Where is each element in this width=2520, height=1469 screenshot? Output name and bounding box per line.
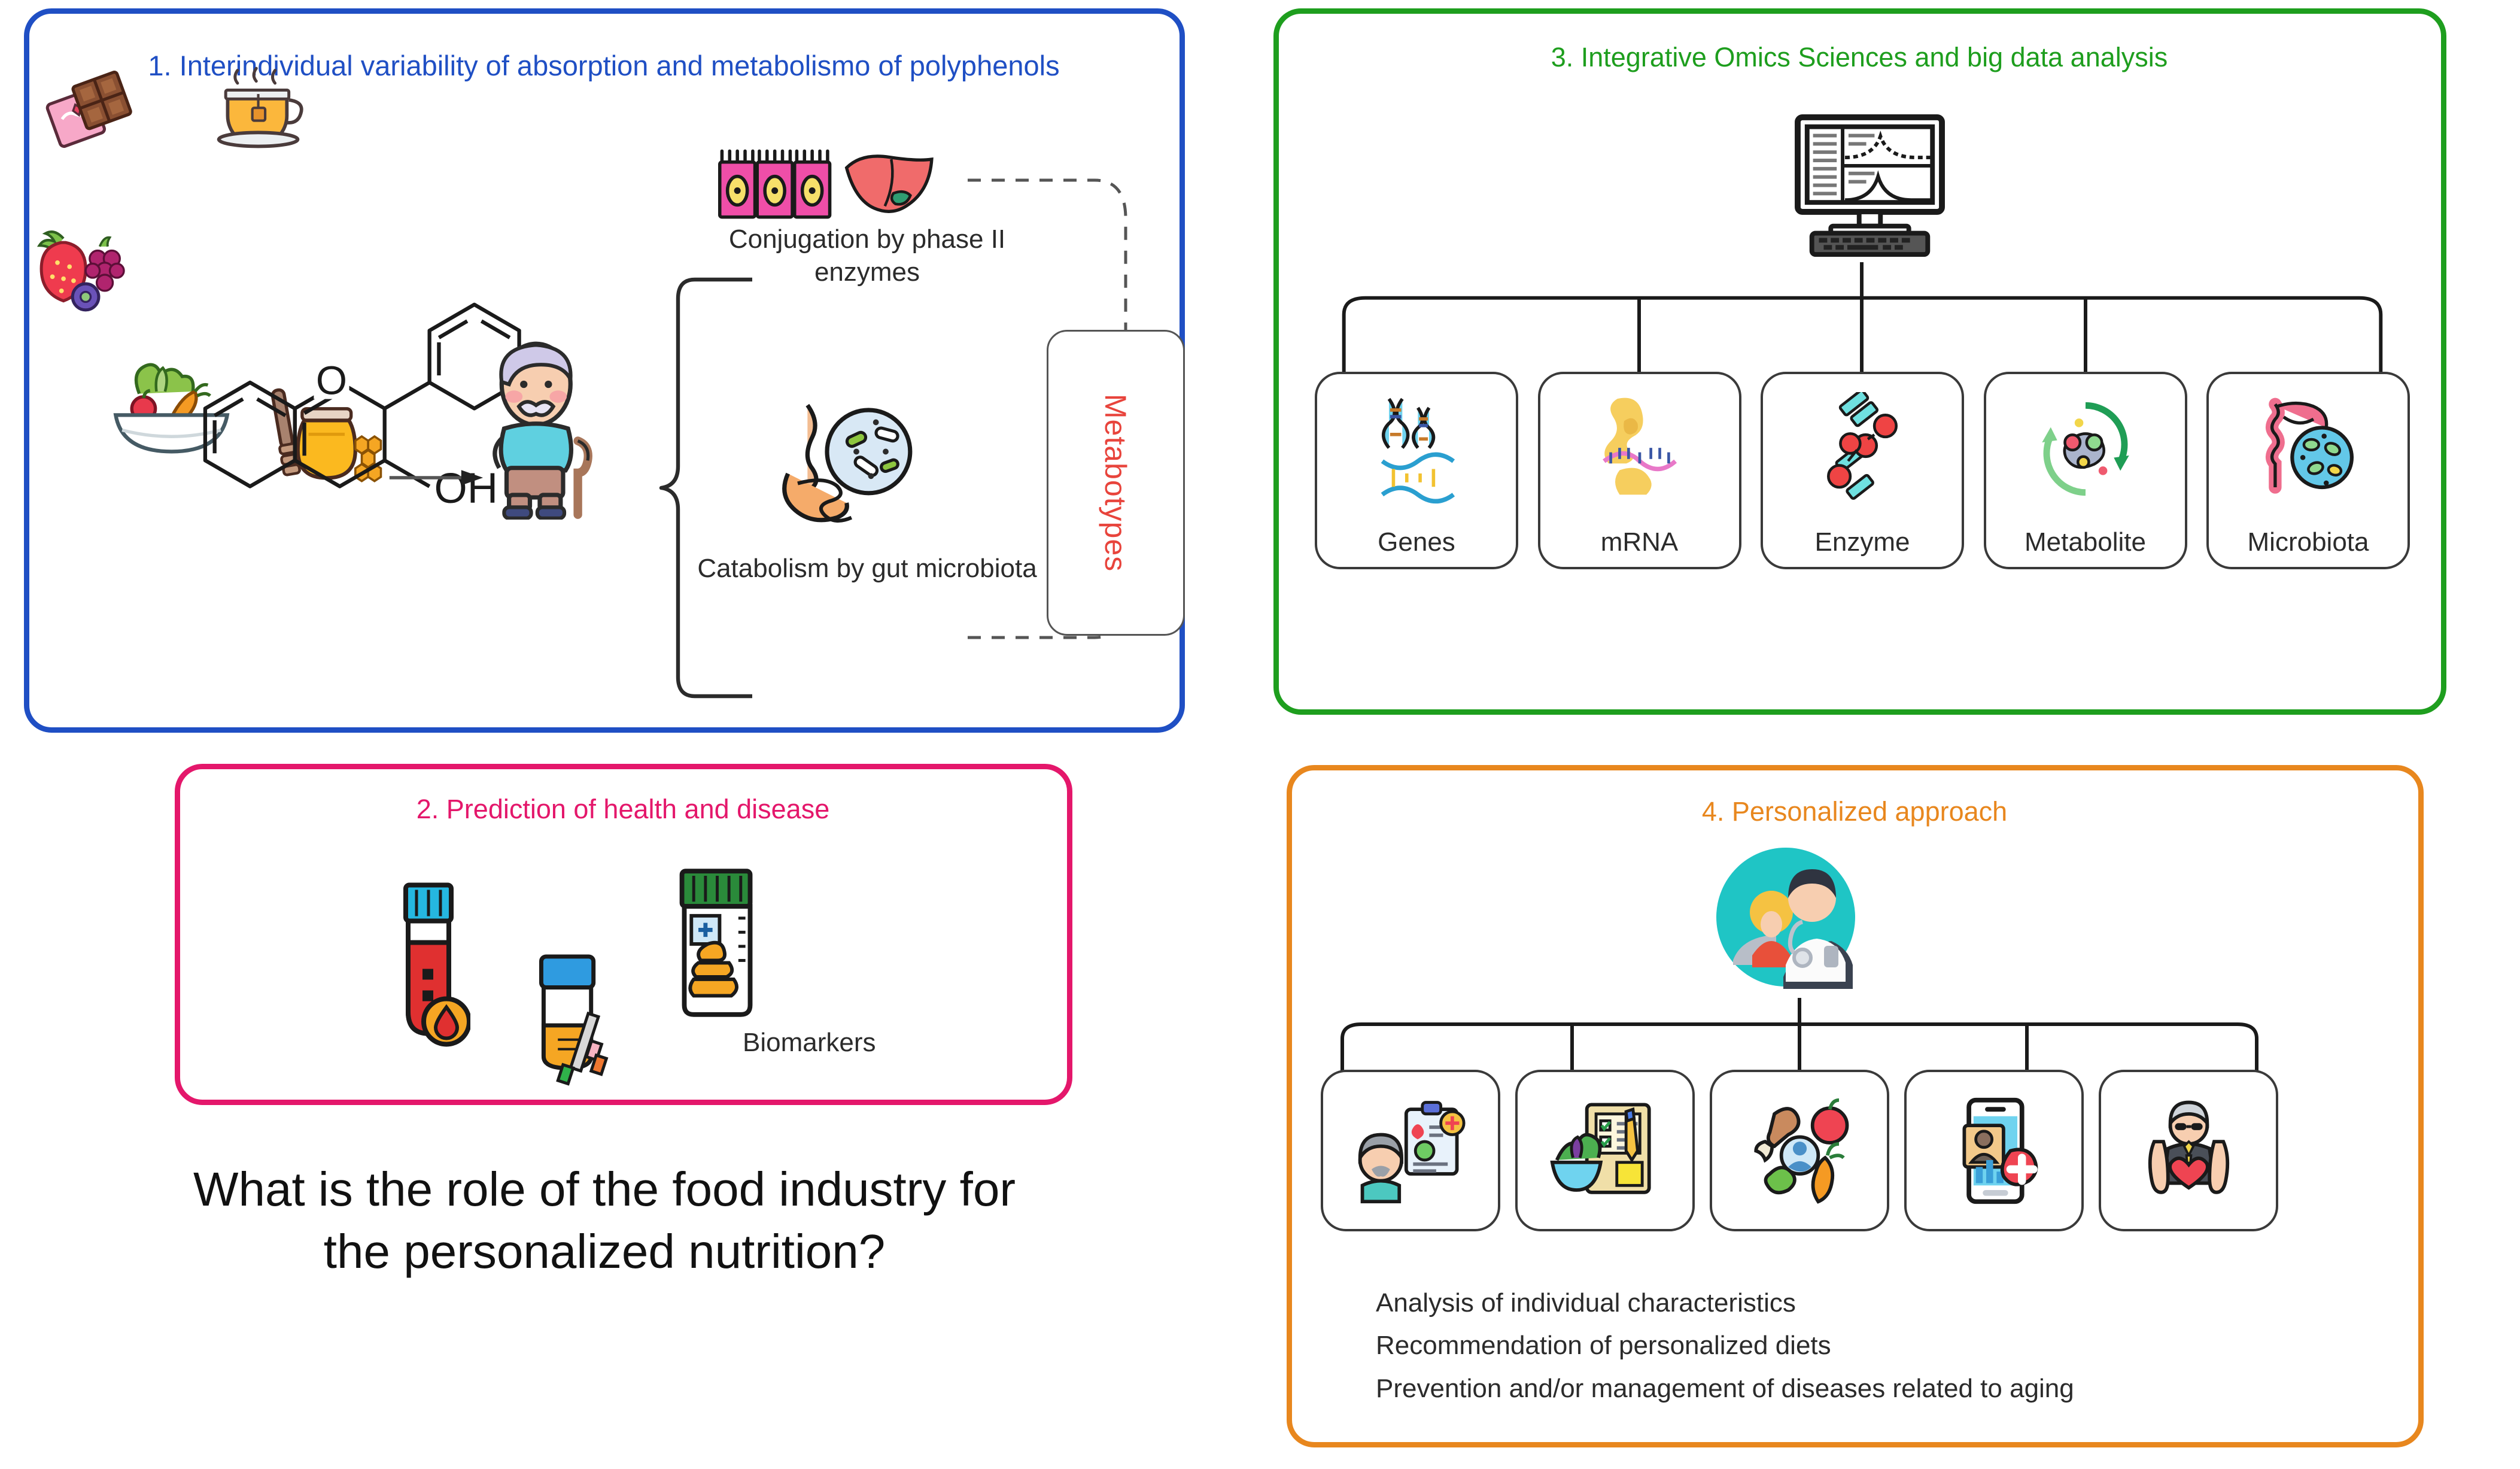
omics-label-enzyme: Enzyme	[1815, 527, 1910, 557]
omics-label-microbiota: Microbiota	[2248, 527, 2369, 557]
approach-box-telemedicine[interactable]	[1904, 1070, 2084, 1231]
omics-tree-connector	[1315, 262, 2410, 373]
panel-integrative-omics: 3. Integrative Omics Sciences and big da…	[1273, 8, 2446, 715]
approach-box-personalized-food[interactable]	[1710, 1070, 1889, 1231]
bullet-2: Prevention and/or management of diseases…	[1376, 1367, 2074, 1410]
approach-bullets: Analysis of individual characteristics R…	[1376, 1282, 2074, 1410]
approach-box-row	[1321, 1070, 2278, 1231]
liver-icon	[840, 148, 936, 223]
bullet-0: Analysis of individual characteristics	[1376, 1282, 2074, 1324]
chromosome-dna-icon	[1373, 374, 1460, 524]
panel-personalized-approach: 4. Personalized approach	[1287, 765, 2424, 1447]
intestinal-epithelium-icon	[715, 147, 837, 221]
elderly-man-with-cane-icon	[472, 340, 610, 520]
urine-sample-cup-icon	[524, 952, 620, 1089]
omics-box-microbiota[interactable]: Microbiota	[2206, 372, 2410, 569]
omics-label-metabolite: Metabolite	[2024, 527, 2146, 557]
chocolate-bar-icon	[41, 68, 143, 157]
omics-box-enzyme[interactable]: Enzyme	[1761, 372, 1964, 569]
omics-box-row: Genes mRNA	[1315, 372, 2410, 569]
omics-label-mrna: mRNA	[1601, 527, 1679, 557]
doctor-patient-consultation-icon	[1714, 845, 1858, 989]
omics-box-genes[interactable]: Genes	[1315, 372, 1518, 569]
enzyme-molecule-icon	[1817, 374, 1907, 524]
panel2-title: 2. Prediction of health and disease	[204, 793, 1042, 826]
approach-box-diet-plan[interactable]	[1515, 1070, 1695, 1231]
approach-box-healthy-aging[interactable]	[2099, 1070, 2278, 1231]
panel-prediction-health-disease: 2. Prediction of health and disease	[175, 764, 1072, 1105]
stool-sample-container-icon	[668, 865, 767, 1021]
biomarkers-caption: Biomarkers	[743, 1028, 876, 1058]
diet-checklist-icon	[1550, 1072, 1661, 1229]
branch-brace	[647, 272, 761, 703]
gut-microbiota-icon	[768, 400, 915, 538]
question-line-2: the personalized nutrition?	[66, 1221, 1143, 1283]
mrna-transcript-icon	[1595, 374, 1685, 524]
metabolite-cycle-icon	[2038, 374, 2133, 524]
personalized-food-icon	[1744, 1072, 1855, 1229]
svg-text:O: O	[316, 359, 347, 403]
telemedicine-app-icon	[1939, 1072, 2050, 1229]
computer-monitor-icon	[1788, 113, 1952, 259]
bullet-1: Recommendation of personalized diets	[1376, 1324, 2074, 1367]
panel-interindividual-variability: 1. Interindividual variability of absorp…	[24, 8, 1185, 733]
omics-label-genes: Genes	[1378, 527, 1455, 557]
panel3-title: 3. Integrative Omics Sciences and big da…	[1315, 41, 2404, 74]
question-line-1: What is the role of the food industry fo…	[66, 1158, 1143, 1221]
panel4-title: 4. Personalized approach	[1316, 796, 2393, 828]
blood-tube-icon	[387, 880, 470, 1051]
healthy-elderly-heart-icon	[2133, 1072, 2244, 1229]
omics-box-metabolite[interactable]: Metabolite	[1984, 372, 2187, 569]
metabotypes-box: Metabotypes	[1047, 330, 1185, 636]
approach-box-patient-record[interactable]	[1321, 1070, 1500, 1231]
process-arrow-icon	[385, 466, 487, 490]
metabotypes-label: Metabotypes	[1048, 332, 1183, 634]
tea-cup-icon	[212, 60, 311, 153]
omics-box-mrna[interactable]: mRNA	[1538, 372, 1741, 569]
gut-bacteria-icon	[2260, 374, 2356, 524]
patient-health-record-icon	[1355, 1072, 1466, 1229]
berries-icon	[35, 220, 146, 316]
central-question: What is the role of the food industry fo…	[66, 1158, 1143, 1283]
